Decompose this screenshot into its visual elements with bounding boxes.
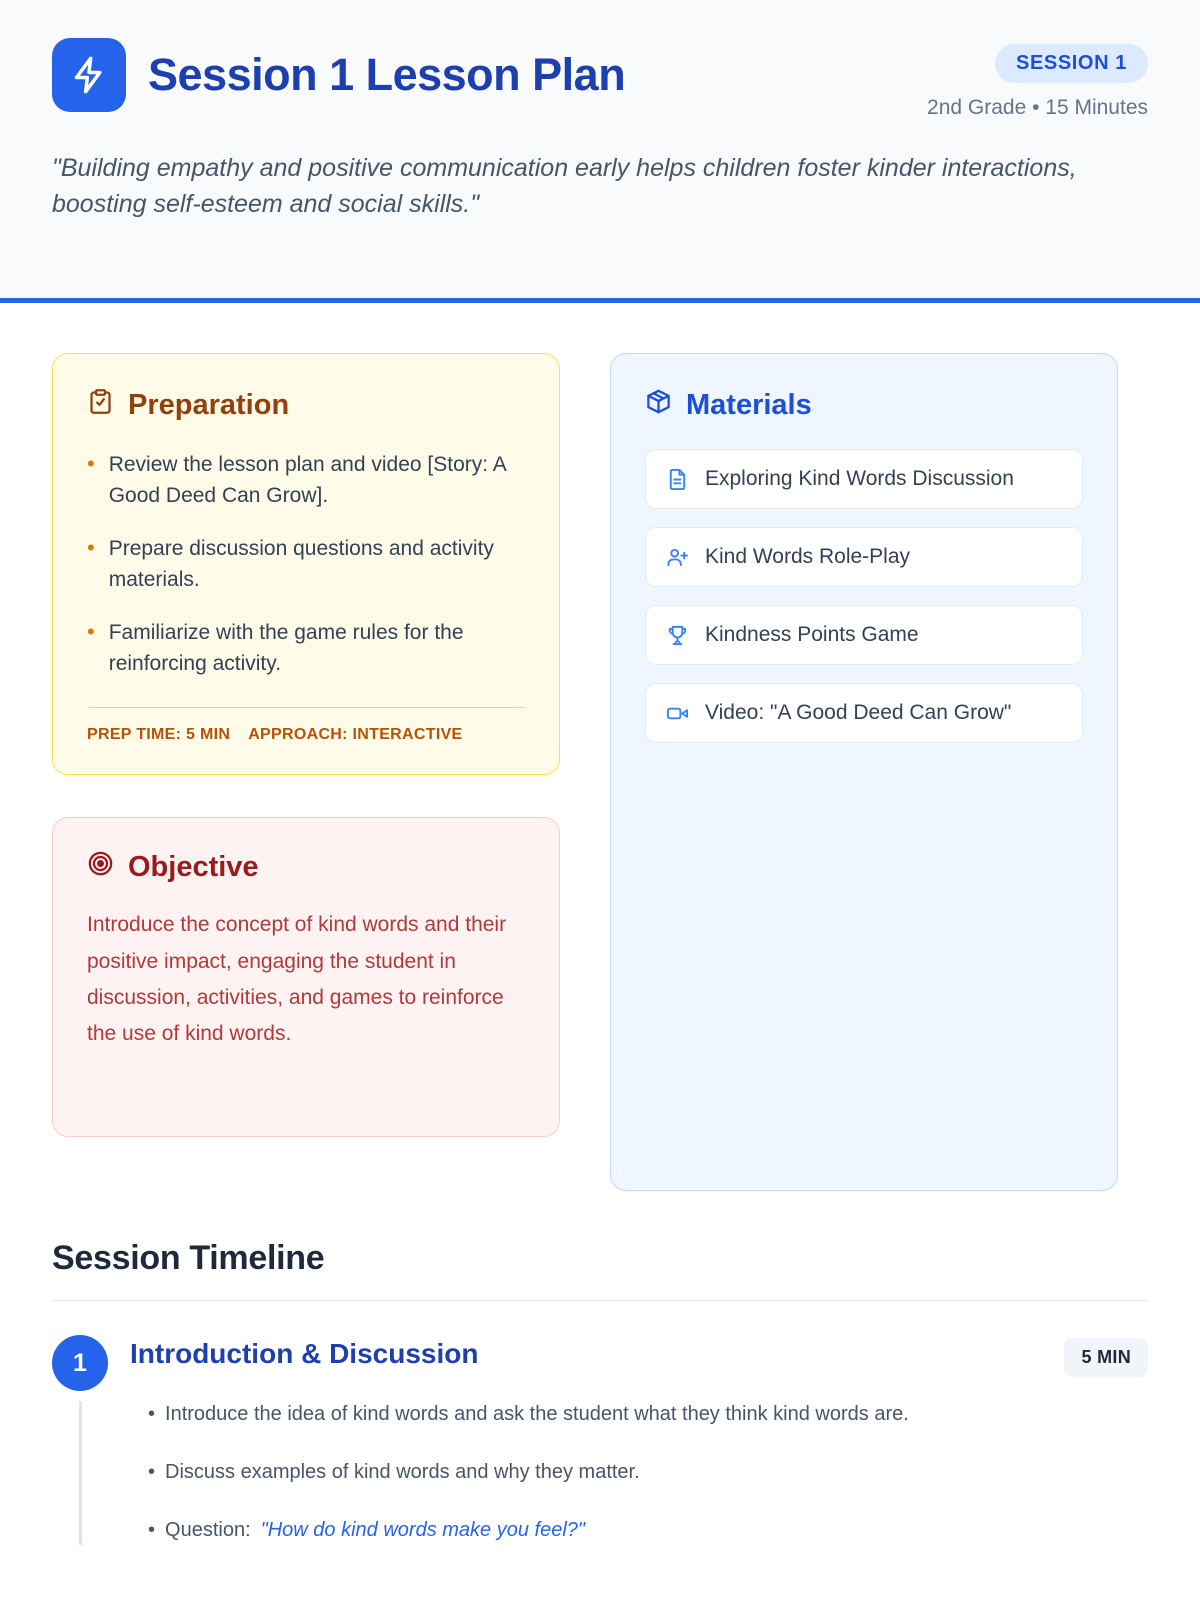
material-item-label: Exploring Kind Words Discussion bbox=[705, 467, 1014, 491]
bullet-icon: • bbox=[87, 449, 95, 511]
preparation-item-text: Prepare discussion questions and activit… bbox=[109, 533, 525, 595]
title-group: Session 1 Lesson Plan bbox=[52, 38, 625, 112]
timeline-heading: Session Timeline bbox=[52, 1239, 1148, 1278]
objective-title-text: Objective bbox=[128, 851, 259, 884]
materials-list: Exploring Kind Words Discussion Kind Wor… bbox=[645, 449, 1083, 743]
preparation-item-text: Familiarize with the game rules for the … bbox=[109, 617, 525, 679]
header-meta-group: SESSION 1 2nd Grade • 15 Minutes bbox=[927, 38, 1148, 120]
cards-row: Preparation • Review the lesson plan and… bbox=[52, 353, 1148, 1191]
step-header: Introduction & Discussion 5 MIN bbox=[130, 1338, 1148, 1377]
lightning-bolt-icon bbox=[52, 38, 126, 112]
materials-card: Materials Exploring Kind Words Dis bbox=[610, 353, 1118, 1191]
trophy-icon bbox=[666, 624, 689, 647]
video-camera-icon bbox=[666, 702, 689, 725]
step-connector-line bbox=[79, 1401, 82, 1545]
preparation-title-text: Preparation bbox=[128, 389, 289, 422]
target-icon bbox=[87, 850, 114, 885]
preparation-list-item: • Familiarize with the game rules for th… bbox=[87, 617, 525, 679]
step-duration-badge: 5 MIN bbox=[1064, 1338, 1148, 1377]
preparation-list-item: • Prepare discussion questions and activ… bbox=[87, 533, 525, 595]
timeline-step: 1 Introduction & Discussion 5 MIN • Intr… bbox=[52, 1335, 1148, 1545]
material-item[interactable]: Kindness Points Game bbox=[645, 605, 1083, 665]
material-item[interactable]: Kind Words Role-Play bbox=[645, 527, 1083, 587]
step-point: • Question: "How do kind words make you … bbox=[148, 1515, 1148, 1545]
file-text-icon bbox=[666, 468, 689, 491]
preparation-item-text: Review the lesson plan and video [Story:… bbox=[109, 449, 525, 511]
material-item-label: Kind Words Role-Play bbox=[705, 545, 910, 569]
page-title: Session 1 Lesson Plan bbox=[148, 51, 625, 98]
session-badge: SESSION 1 bbox=[995, 44, 1148, 83]
bullet-icon: • bbox=[87, 533, 95, 595]
objective-card-title: Objective bbox=[87, 850, 525, 885]
material-item[interactable]: Video: "A Good Deed Can Grow" bbox=[645, 683, 1083, 743]
step-body: Introduction & Discussion 5 MIN • Introd… bbox=[130, 1335, 1148, 1545]
materials-card-title: Materials bbox=[645, 388, 1083, 423]
grade-duration-text: 2nd Grade • 15 Minutes bbox=[927, 96, 1148, 120]
step-point: • Discuss examples of kind words and why… bbox=[148, 1457, 1148, 1487]
preparation-divider bbox=[87, 707, 525, 708]
step-points-list: • Introduce the idea of kind words and a… bbox=[130, 1399, 1148, 1545]
approach-text: APPROACH: INTERACTIVE bbox=[248, 726, 462, 744]
preparation-card-title: Preparation bbox=[87, 388, 525, 423]
header-top-row: Session 1 Lesson Plan SESSION 1 2nd Grad… bbox=[52, 38, 1148, 120]
step-question-text: "How do kind words make you feel?" bbox=[261, 1515, 585, 1545]
user-plus-icon bbox=[666, 546, 689, 569]
prep-time-text: PREP TIME: 5 MIN bbox=[87, 726, 230, 744]
page-header: Session 1 Lesson Plan SESSION 1 2nd Grad… bbox=[0, 0, 1200, 303]
material-item-label: Video: "A Good Deed Can Grow" bbox=[705, 701, 1011, 725]
step-number-badge: 1 bbox=[52, 1335, 108, 1391]
objective-text: Introduce the concept of kind words and … bbox=[87, 907, 525, 1051]
material-item[interactable]: Exploring Kind Words Discussion bbox=[645, 449, 1083, 509]
preparation-meta-row: PREP TIME: 5 MIN APPROACH: INTERACTIVE bbox=[87, 726, 525, 744]
bullet-icon: • bbox=[148, 1457, 155, 1487]
step-point-text: Question: bbox=[165, 1515, 251, 1545]
package-box-icon bbox=[645, 388, 672, 423]
step-title: Introduction & Discussion bbox=[130, 1338, 478, 1370]
timeline-section: Session Timeline 1 Introduction & Discus… bbox=[0, 1239, 1200, 1545]
right-column: Materials Exploring Kind Words Dis bbox=[610, 353, 1118, 1191]
objective-card: Objective Introduce the concept of kind … bbox=[52, 817, 560, 1137]
body-area: Preparation • Review the lesson plan and… bbox=[0, 303, 1200, 1191]
materials-title-text: Materials bbox=[686, 389, 812, 422]
step-point-text: Discuss examples of kind words and why t… bbox=[165, 1457, 640, 1487]
timeline-divider bbox=[52, 1300, 1148, 1301]
step-point: • Introduce the idea of kind words and a… bbox=[148, 1399, 1148, 1429]
bullet-icon: • bbox=[148, 1399, 155, 1429]
bullet-icon: • bbox=[87, 617, 95, 679]
preparation-card: Preparation • Review the lesson plan and… bbox=[52, 353, 560, 775]
bullet-icon: • bbox=[148, 1515, 155, 1545]
preparation-list: • Review the lesson plan and video [Stor… bbox=[87, 449, 525, 679]
left-column: Preparation • Review the lesson plan and… bbox=[52, 353, 560, 1137]
clipboard-check-icon bbox=[87, 388, 114, 423]
step-marker-column: 1 bbox=[52, 1335, 108, 1545]
step-point-text: Introduce the idea of kind words and ask… bbox=[165, 1399, 909, 1429]
preparation-list-item: • Review the lesson plan and video [Stor… bbox=[87, 449, 525, 511]
header-quote: "Building empathy and positive communica… bbox=[52, 150, 1092, 223]
material-item-label: Kindness Points Game bbox=[705, 623, 919, 647]
